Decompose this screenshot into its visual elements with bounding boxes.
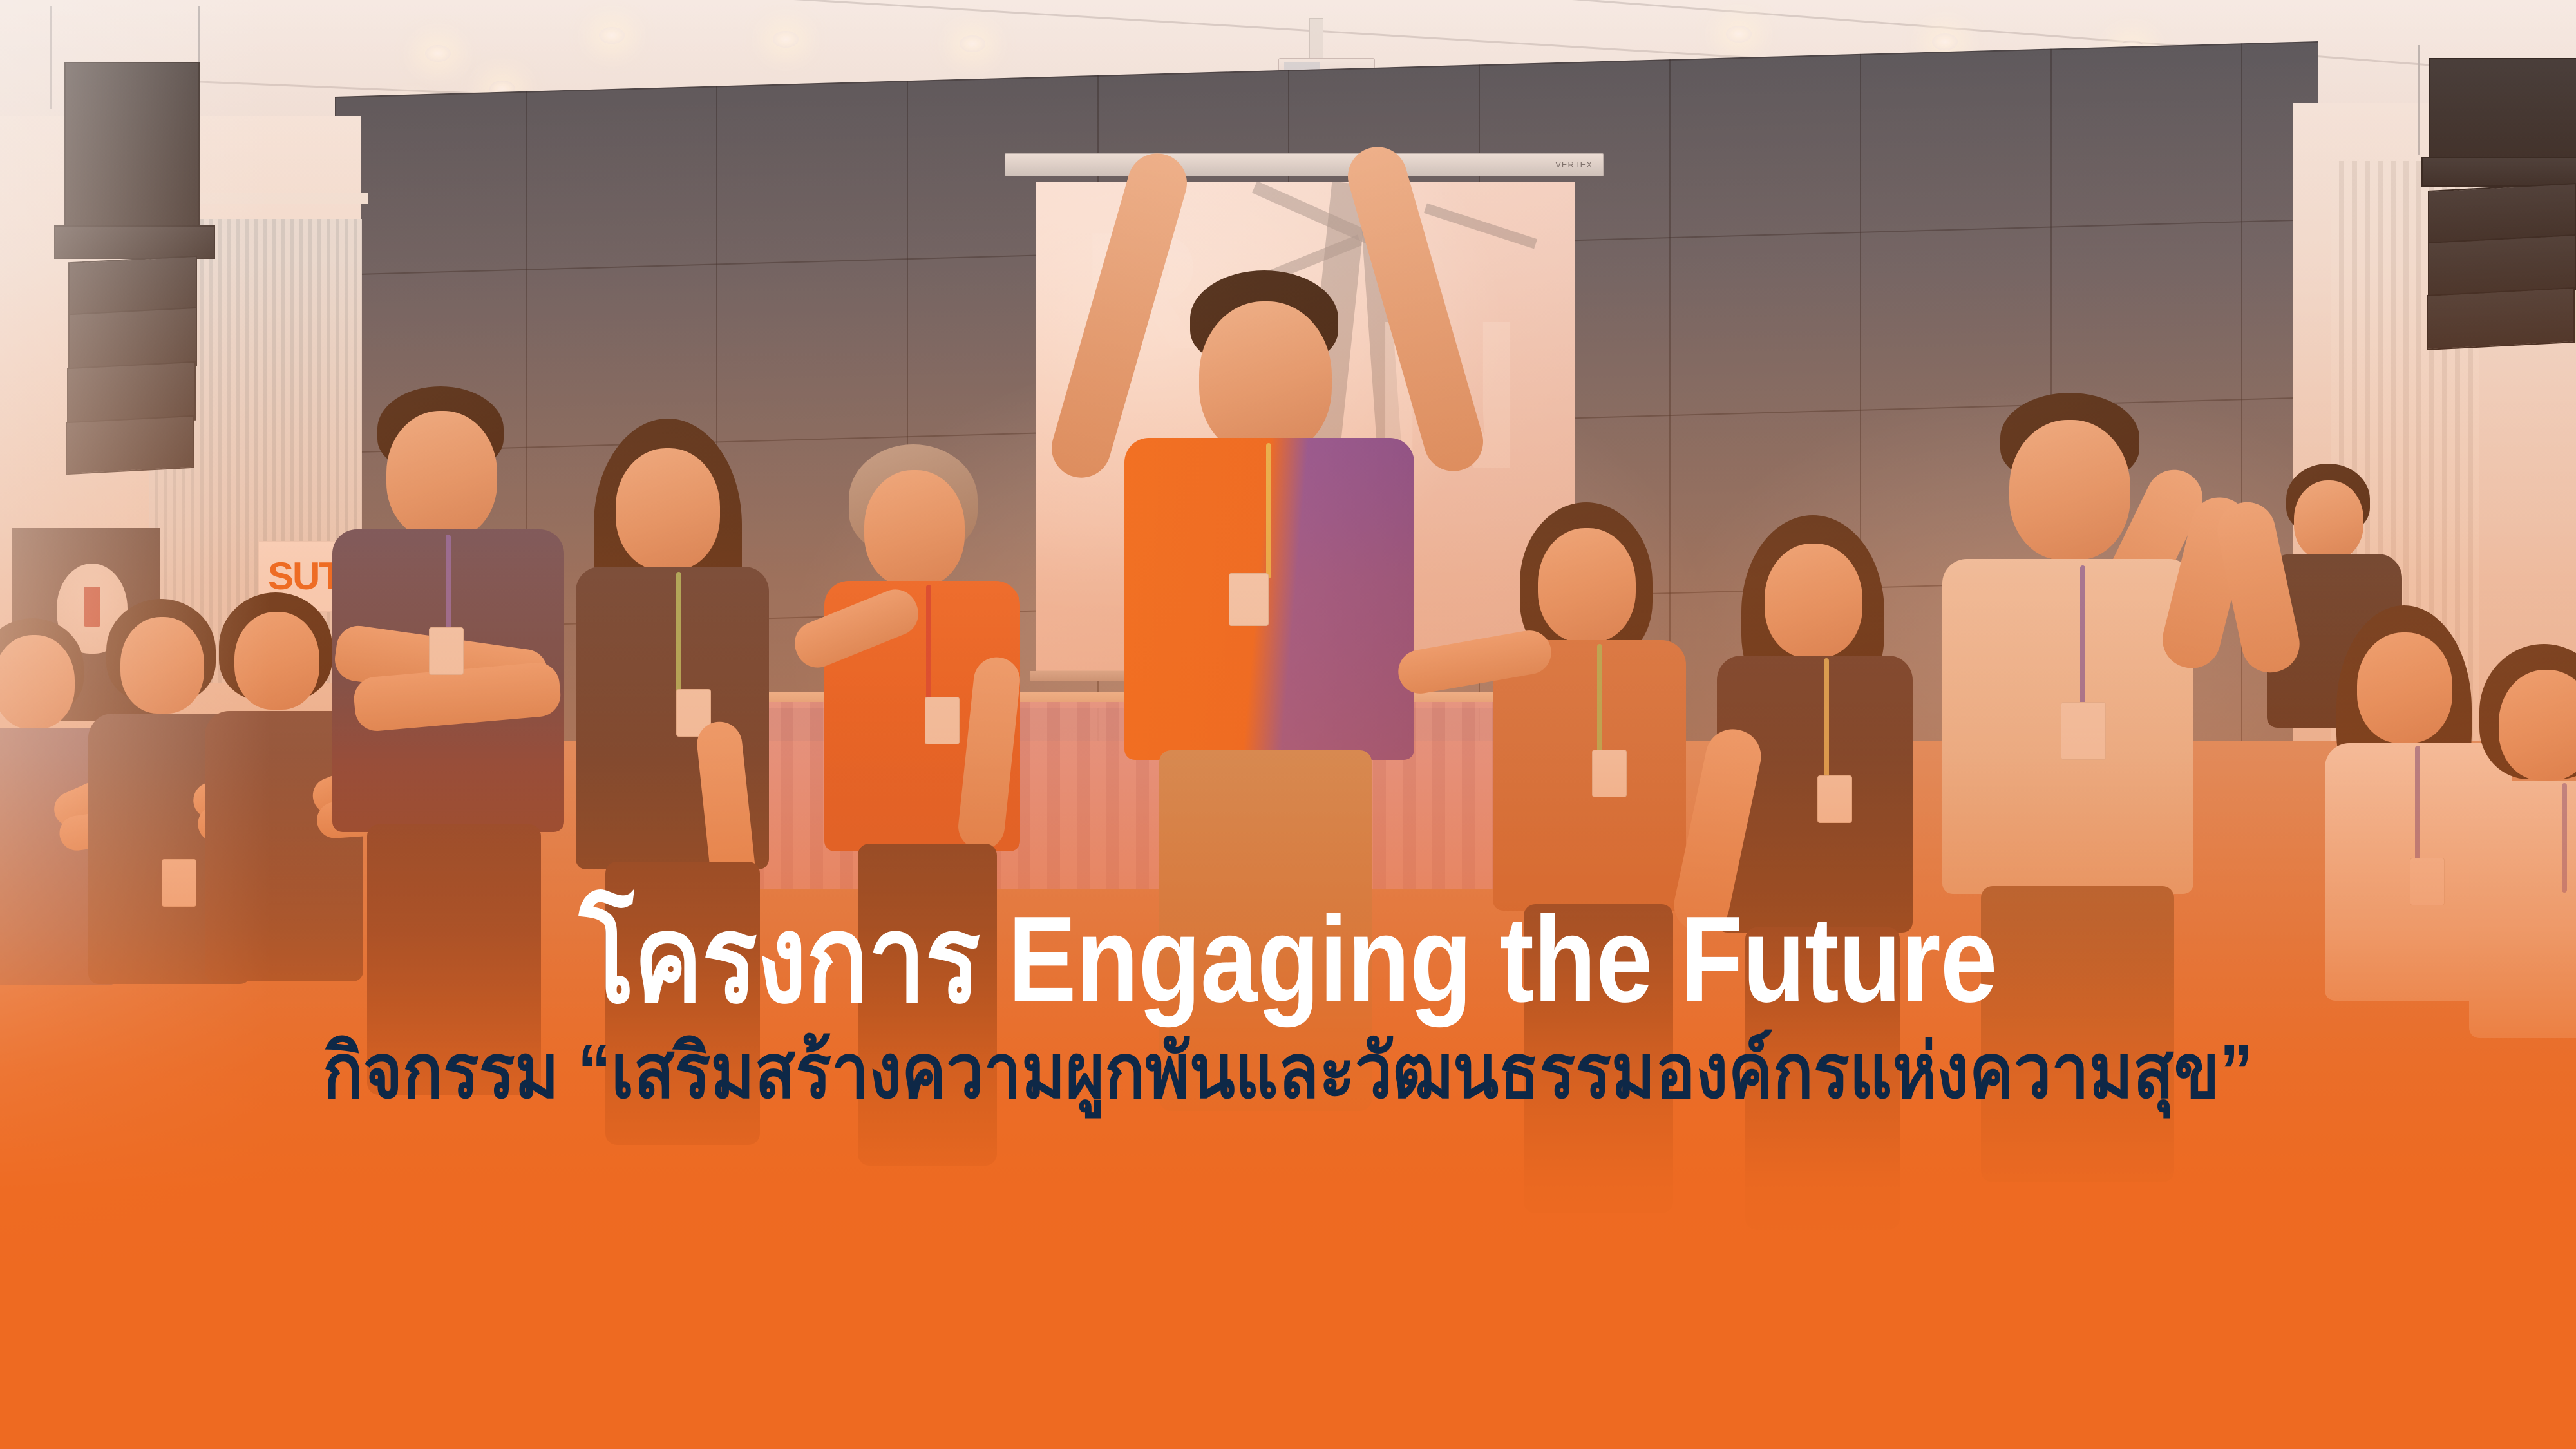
torso bbox=[2469, 781, 2576, 1038]
name-badge bbox=[429, 627, 464, 675]
legs-khaki bbox=[1159, 750, 1372, 1111]
head bbox=[2009, 420, 2130, 560]
event-banner: VERTEX R N SUT bbox=[0, 0, 2576, 1449]
head bbox=[2357, 632, 2452, 743]
head bbox=[0, 635, 75, 729]
legs bbox=[1981, 886, 2174, 1182]
name-badge bbox=[162, 859, 196, 907]
head bbox=[1765, 544, 1862, 658]
speaker-module bbox=[66, 415, 194, 475]
head bbox=[120, 617, 204, 714]
head bbox=[386, 411, 497, 540]
legs bbox=[1524, 904, 1673, 1213]
legs bbox=[1745, 927, 1900, 1230]
speaker-module bbox=[2427, 287, 2575, 350]
ceiling-downlight-icon bbox=[599, 27, 625, 44]
name-badge bbox=[2410, 858, 2445, 905]
ceiling-downlight-icon bbox=[1932, 33, 1958, 50]
speaker-module bbox=[2429, 58, 2576, 161]
lanyard bbox=[1266, 443, 1271, 578]
head bbox=[616, 448, 720, 571]
projection-screen-housing: VERTEX bbox=[1005, 153, 1604, 176]
lanyard bbox=[1597, 644, 1602, 753]
event-photograph: VERTEX R N SUT bbox=[0, 0, 2576, 1449]
head bbox=[864, 470, 965, 587]
speaker-chain bbox=[50, 6, 52, 109]
ceiling-downlight-icon bbox=[773, 31, 799, 48]
lanyard bbox=[676, 572, 681, 694]
name-badge bbox=[2061, 702, 2106, 760]
ceiling-downlight-icon bbox=[425, 45, 451, 62]
name-badge bbox=[1817, 775, 1852, 823]
name-badge bbox=[925, 697, 960, 744]
screen-brand-label: VERTEX bbox=[1555, 160, 1593, 169]
name-badge bbox=[1592, 750, 1627, 797]
lanyard bbox=[2415, 746, 2420, 862]
head bbox=[1538, 528, 1636, 643]
speaker-bracket bbox=[2421, 157, 2576, 187]
speaker-bracket bbox=[54, 225, 215, 259]
lanyard bbox=[446, 535, 451, 631]
lanyard bbox=[2080, 565, 2085, 707]
lanyard bbox=[2562, 783, 2567, 893]
sut-logo-text: SUT bbox=[268, 554, 341, 598]
ceiling-downlight-icon bbox=[960, 35, 985, 52]
legs bbox=[605, 862, 760, 1145]
ceiling-downlight-icon bbox=[1726, 26, 1752, 43]
name-badge bbox=[1229, 573, 1269, 626]
head bbox=[234, 612, 319, 710]
torso bbox=[1493, 640, 1686, 911]
speaker-chain bbox=[2418, 45, 2420, 155]
head bbox=[1199, 301, 1332, 456]
lanyard bbox=[926, 585, 931, 701]
lanyard bbox=[1824, 658, 1829, 781]
head bbox=[2294, 480, 2363, 560]
legs bbox=[367, 824, 541, 1095]
projector-mount-pole bbox=[1309, 18, 1323, 62]
legs bbox=[858, 844, 997, 1166]
head bbox=[2499, 670, 2576, 781]
speaker-module bbox=[64, 62, 200, 229]
